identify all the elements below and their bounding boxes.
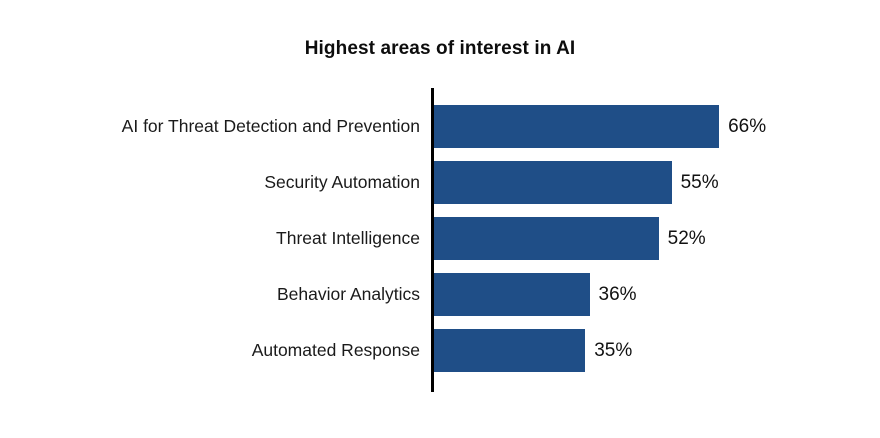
bar-value-label: 52% bbox=[668, 217, 706, 260]
bar-row: Behavior Analytics36% bbox=[0, 273, 880, 316]
bars-container: AI for Threat Detection and Prevention66… bbox=[0, 88, 880, 392]
bar-segment[interactable] bbox=[434, 161, 672, 204]
bar-track: 36% bbox=[434, 273, 637, 316]
bar-row: Automated Response35% bbox=[0, 329, 880, 372]
category-label: Behavior Analytics bbox=[0, 273, 420, 316]
bar-segment[interactable] bbox=[434, 217, 659, 260]
bar-segment[interactable] bbox=[434, 329, 585, 372]
bar-segment[interactable] bbox=[434, 105, 719, 148]
bar-value-label: 66% bbox=[728, 105, 766, 148]
bar-value-label: 36% bbox=[599, 273, 637, 316]
bar-track: 52% bbox=[434, 217, 706, 260]
bar-track: 66% bbox=[434, 105, 766, 148]
bar-value-label: 35% bbox=[594, 329, 632, 372]
category-label: AI for Threat Detection and Prevention bbox=[0, 105, 420, 148]
category-label: Threat Intelligence bbox=[0, 217, 420, 260]
chart-title: Highest areas of interest in AI bbox=[0, 38, 880, 60]
bar-row: Threat Intelligence52% bbox=[0, 217, 880, 260]
bar-track: 35% bbox=[434, 329, 632, 372]
category-label: Security Automation bbox=[0, 161, 420, 204]
bar-row: Security Automation55% bbox=[0, 161, 880, 204]
category-label: Automated Response bbox=[0, 329, 420, 372]
bar-chart: Highest areas of interest in AI AI for T… bbox=[0, 0, 880, 438]
bar-track: 55% bbox=[434, 161, 719, 204]
bar-segment[interactable] bbox=[434, 273, 590, 316]
plot-area: AI for Threat Detection and Prevention66… bbox=[0, 88, 880, 392]
bar-value-label: 55% bbox=[681, 161, 719, 204]
bar-row: AI for Threat Detection and Prevention66… bbox=[0, 105, 880, 148]
